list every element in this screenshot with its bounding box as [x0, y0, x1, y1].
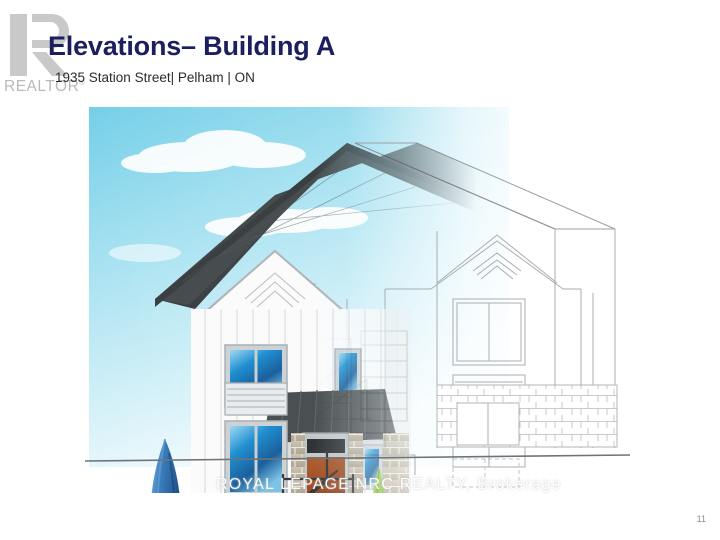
page-title: Elevations– Building A	[48, 31, 335, 62]
lower-windows	[225, 421, 287, 493]
louvre-panel	[225, 383, 287, 415]
elevation-drawing	[85, 103, 630, 493]
page-subtitle: 1935 Station Street| Pelham | ON	[55, 70, 255, 85]
elevation-rendering	[85, 103, 630, 493]
page-number: 11	[697, 514, 706, 524]
